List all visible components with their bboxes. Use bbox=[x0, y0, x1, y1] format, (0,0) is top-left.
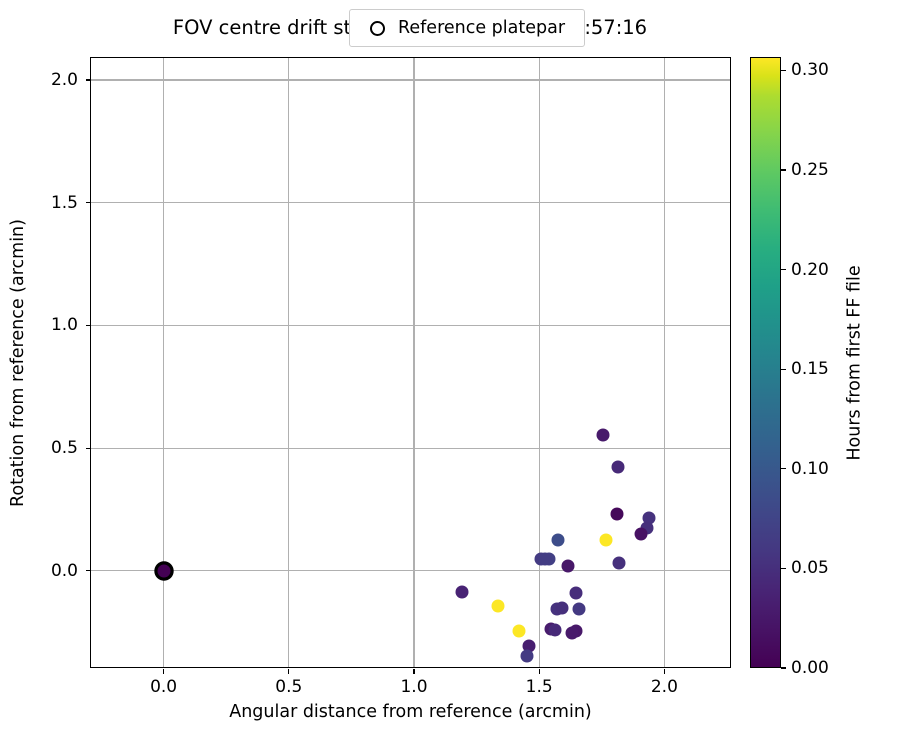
x-tick-label: 1.0 bbox=[400, 677, 427, 697]
y-axis-label: Rotation from reference (arcmin) bbox=[6, 57, 30, 668]
colorbar-tick bbox=[781, 468, 786, 469]
colorbar-tick-label: 0.10 bbox=[791, 459, 829, 479]
x-tick bbox=[413, 669, 414, 674]
colorbar-label-text: Hours from first FF file bbox=[845, 265, 865, 460]
data-point bbox=[491, 600, 504, 613]
data-point bbox=[573, 602, 586, 615]
x-tick bbox=[288, 669, 289, 674]
data-point bbox=[597, 428, 610, 441]
y-tick-label: 2.0 bbox=[51, 70, 78, 90]
colorbar-tick-label: 0.20 bbox=[791, 260, 829, 280]
y-tick bbox=[86, 448, 91, 449]
y-tick bbox=[86, 325, 91, 326]
x-tick bbox=[664, 669, 665, 674]
colorbar[interactable]: 0.000.050.100.150.200.250.30 bbox=[750, 57, 781, 668]
colorbar-label: Hours from first FF file bbox=[843, 57, 867, 668]
x-tick bbox=[539, 669, 540, 674]
colorbar-tick-label: 0.15 bbox=[791, 359, 829, 379]
colorbar-tick bbox=[781, 568, 786, 569]
y-tick-label: 0.0 bbox=[51, 561, 78, 581]
data-point bbox=[520, 649, 533, 662]
colorbar-tick-label: 0.30 bbox=[791, 60, 829, 80]
data-point bbox=[556, 602, 569, 615]
colorbar-gradient bbox=[750, 57, 781, 668]
legend-label: Reference platepar bbox=[398, 18, 571, 38]
gridline-vertical bbox=[288, 58, 289, 667]
reference-platepar-point bbox=[157, 564, 170, 577]
colorbar-tick-label: 0.25 bbox=[791, 160, 829, 180]
data-point bbox=[551, 534, 564, 547]
x-axis-label: Angular distance from reference (arcmin) bbox=[90, 702, 731, 722]
colorbar-tick-label: 0.05 bbox=[791, 558, 829, 578]
legend[interactable]: Reference platepar bbox=[349, 9, 585, 47]
data-point bbox=[539, 552, 552, 565]
gridline-horizontal bbox=[91, 79, 730, 80]
x-tick-label: 0.5 bbox=[275, 677, 302, 697]
gridline-vertical bbox=[413, 58, 414, 667]
y-axis-label-text: Rotation from reference (arcmin) bbox=[8, 219, 28, 507]
data-point bbox=[513, 624, 526, 637]
colorbar-tick bbox=[781, 269, 786, 270]
x-tick-label: 1.5 bbox=[526, 677, 553, 697]
data-point bbox=[549, 623, 562, 636]
plot-axes: 0.00.51.01.52.00.00.51.01.52.0 bbox=[90, 57, 731, 668]
colorbar-tick-label: 0.00 bbox=[791, 658, 829, 678]
y-tick bbox=[86, 202, 91, 203]
x-tick bbox=[163, 669, 164, 674]
y-tick bbox=[86, 79, 91, 80]
x-tick-label: 2.0 bbox=[651, 677, 678, 697]
y-tick bbox=[86, 570, 91, 571]
gridline-horizontal bbox=[91, 448, 730, 449]
colorbar-tick bbox=[781, 169, 786, 170]
data-point bbox=[455, 585, 468, 598]
reference-platepar-marker-icon bbox=[370, 21, 385, 36]
gridline-vertical bbox=[539, 58, 540, 667]
data-point bbox=[634, 528, 647, 541]
data-point bbox=[561, 559, 574, 572]
gridline-horizontal bbox=[91, 325, 730, 326]
colorbar-tick bbox=[781, 369, 786, 370]
data-point bbox=[610, 508, 623, 521]
y-tick-label: 0.5 bbox=[51, 438, 78, 458]
colorbar-tick bbox=[781, 667, 786, 668]
data-point bbox=[569, 586, 582, 599]
gridline-horizontal bbox=[91, 570, 730, 571]
scatter-plot-area bbox=[91, 58, 730, 667]
data-point bbox=[565, 627, 578, 640]
figure-canvas: FOV centre drift starting at 2025/12/11 … bbox=[0, 0, 900, 750]
data-point bbox=[612, 460, 625, 473]
data-point bbox=[599, 534, 612, 547]
colorbar-tick bbox=[781, 70, 786, 71]
y-tick-label: 1.0 bbox=[51, 315, 78, 335]
x-tick-label: 0.0 bbox=[150, 677, 177, 697]
gridline-vertical bbox=[664, 58, 665, 667]
y-tick-label: 1.5 bbox=[51, 193, 78, 213]
data-point bbox=[613, 557, 626, 570]
gridline-horizontal bbox=[91, 202, 730, 203]
